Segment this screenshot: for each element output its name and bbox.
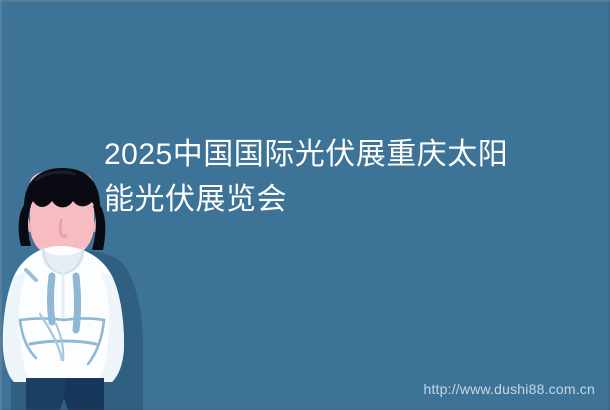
title-line-2: 能光伏展览会 xyxy=(104,177,534,222)
promo-banner: 2025中国国际光伏展重庆太阳 能光伏展览会 http://www.dushi8… xyxy=(0,0,610,410)
banner-title: 2025中国国际光伏展重庆太阳 能光伏展览会 xyxy=(104,132,534,222)
title-line-1: 2025中国国际光伏展重庆太阳 xyxy=(104,132,534,177)
watermark-url: http://www.dushi88.com.cn xyxy=(423,381,595,397)
